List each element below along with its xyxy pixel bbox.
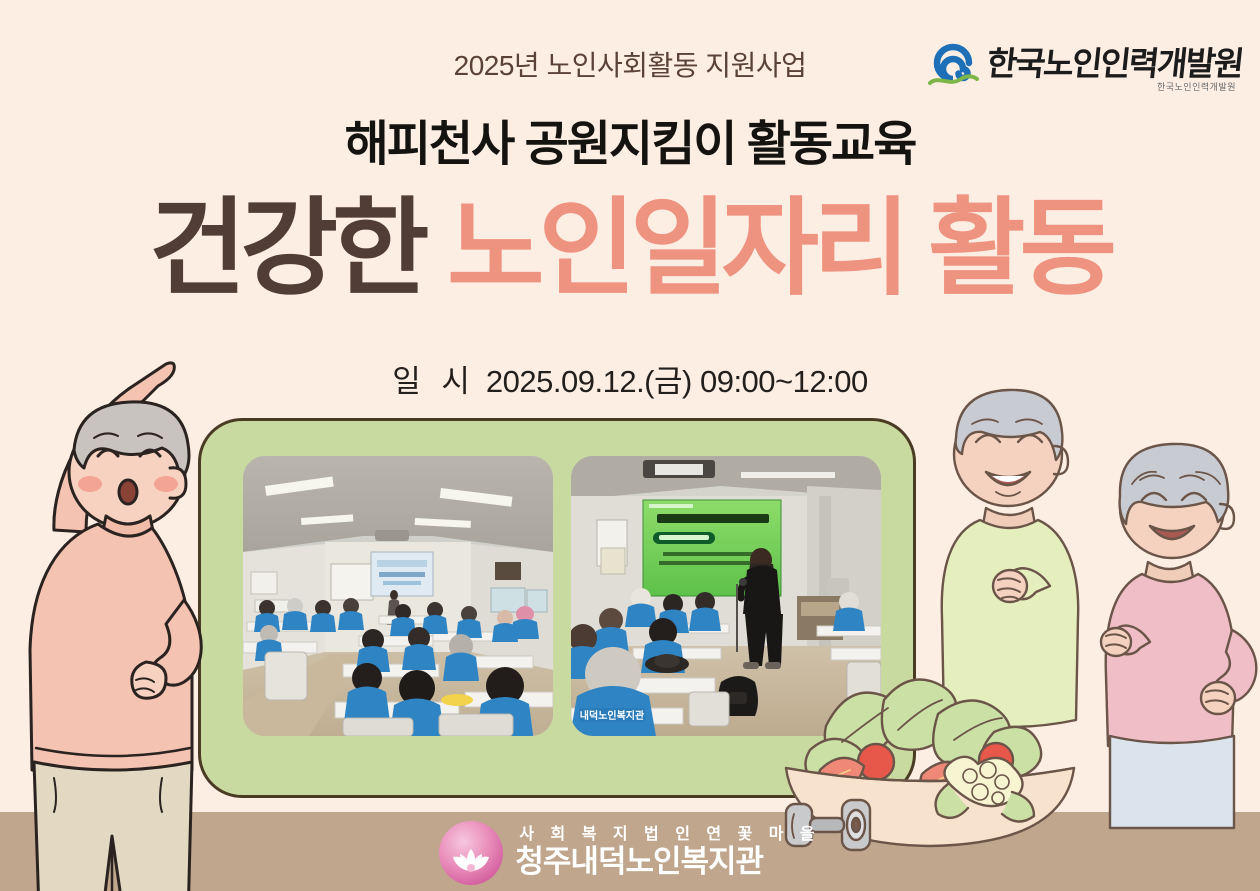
footer-logo: 사 회 복 지 법 인 연 꽃 마 을 청주내덕노인복지관 bbox=[0, 821, 1260, 885]
partner-logo: 한국노인인력개발원 한국노인인력개발원 bbox=[927, 40, 1242, 98]
senior-man-stretching-illustration bbox=[0, 300, 234, 860]
poster-subtitle: 해피천사 공원지킴이 활동교육 bbox=[0, 104, 1260, 174]
spiral-wave-logo-icon bbox=[927, 43, 979, 95]
senior-woman-figure bbox=[1101, 444, 1256, 828]
footer-logo-sub: 사 회 복 지 법 인 연 꽃 마 을 bbox=[519, 827, 820, 844]
lotus-circle-icon bbox=[439, 821, 503, 885]
footer-logo-name: 청주내덕노인복지관 bbox=[515, 846, 820, 879]
schedule-label: 일 시 bbox=[392, 364, 476, 399]
main-title-coral: 노인일자리 활동 bbox=[447, 190, 1111, 308]
partner-logo-name: 한국노인인력개발원 bbox=[985, 47, 1244, 80]
header-row: 2025년 노인사회활동 지원사업 한국노인인력개발원 한국노인인력개발원 bbox=[0, 40, 1260, 100]
schedule-value: 2025.09.12.(금) 09:00~12:00 bbox=[486, 364, 868, 399]
classroom-wide-photo-art bbox=[243, 456, 553, 736]
main-title-dark: 건강한 bbox=[149, 190, 424, 308]
poster-root: 2025년 노인사회활동 지원사업 한국노인인력개발원 한국노인인력개발원 해피… bbox=[0, 0, 1260, 891]
classroom-wide-photo bbox=[243, 456, 553, 736]
partner-logo-text: 한국노인인력개발원 한국노인인력개발원 bbox=[987, 47, 1242, 92]
partner-logo-sub: 한국노인인력개발원 bbox=[1157, 83, 1236, 92]
page-title: 건강한 노인일자리 활동 bbox=[0, 196, 1260, 302]
footer-logo-text: 사 회 복 지 법 인 연 꽃 마 을 청주내덕노인복지관 bbox=[515, 827, 820, 878]
vest-text: 내덕노인복지관 bbox=[580, 709, 645, 722]
